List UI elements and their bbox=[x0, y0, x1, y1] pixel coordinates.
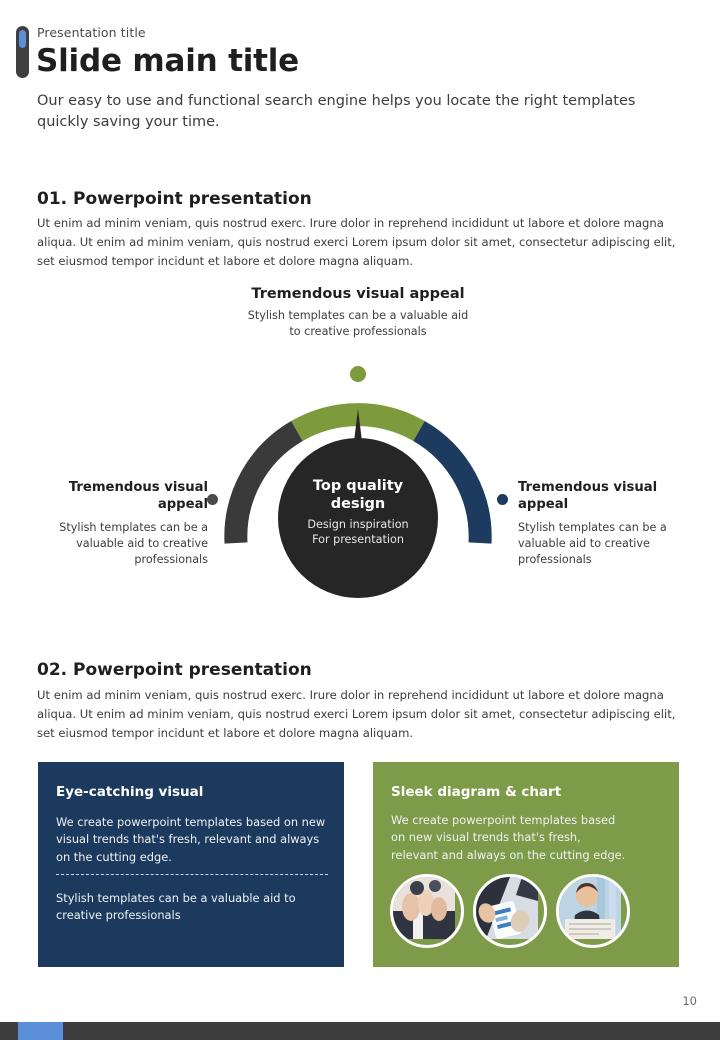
gauge-label-right: Tremendous visual appeal Stylish templat… bbox=[518, 480, 668, 568]
card-green-title: Sleek diagram & chart bbox=[391, 784, 561, 800]
gauge-diagram: Tremendous visual appeal Stylish templat… bbox=[0, 280, 720, 600]
footer-accent-block bbox=[18, 1022, 63, 1040]
gauge-label-right-title: Tremendous visual appeal bbox=[518, 480, 668, 514]
page-number: 10 bbox=[682, 994, 697, 1008]
gauge-label-left-desc: Stylish templates can be a valuable aid … bbox=[58, 520, 208, 568]
gauge-label-left-title: Tremendous visual appeal bbox=[58, 480, 208, 514]
presentation-eyebrow: Presentation title bbox=[37, 25, 146, 40]
gauge-right-dot-icon bbox=[497, 494, 508, 505]
gauge-arcs-graphic bbox=[218, 365, 502, 600]
section-body-02: Ut enim ad minim veniam, quis nostrud ex… bbox=[37, 686, 687, 742]
gauge-label-left: Tremendous visual appeal Stylish templat… bbox=[58, 480, 208, 568]
gauge-label-right-desc: Stylish templates can be a valuable aid … bbox=[518, 520, 668, 568]
title-marker-accent bbox=[19, 30, 26, 48]
title-marker-icon bbox=[16, 26, 29, 78]
section-heading-01: 01. Powerpoint presentation bbox=[37, 189, 312, 209]
gauge-label-top-title: Tremendous visual appeal bbox=[243, 285, 473, 303]
section-body-01: Ut enim ad minim veniam, quis nostrud ex… bbox=[37, 214, 687, 270]
tablet-chart-meeting-photo bbox=[473, 874, 547, 948]
gauge-label-top-desc: Stylish templates can be a valuable aid … bbox=[243, 308, 473, 339]
card-sleek-diagram-chart[interactable]: Sleek diagram & chart We create powerpoi… bbox=[373, 762, 679, 967]
gauge-left-dot-icon bbox=[207, 494, 218, 505]
card-green-photo-row bbox=[390, 874, 630, 948]
card-eye-catching-visual[interactable]: Eye-catching visual We create powerpoint… bbox=[38, 762, 344, 967]
man-reading-newspaper-photo bbox=[556, 874, 630, 948]
card-blue-divider bbox=[56, 874, 328, 875]
gauge-label-top: Tremendous visual appeal Stylish templat… bbox=[243, 285, 473, 339]
footer-bar bbox=[0, 1022, 720, 1040]
card-green-body: We create powerpoint templates based on … bbox=[391, 812, 631, 864]
card-blue-title: Eye-catching visual bbox=[56, 784, 203, 800]
section-heading-02: 02. Powerpoint presentation bbox=[37, 660, 312, 680]
card-blue-note: Stylish templates can be a valuable aid … bbox=[56, 890, 328, 924]
page-title: Slide main title bbox=[36, 43, 299, 79]
card-blue-body: We create powerpoint templates based on … bbox=[56, 814, 328, 866]
applauding-hands-photo bbox=[390, 874, 464, 948]
page-subtitle: Our easy to use and functional search en… bbox=[37, 91, 637, 133]
gauge-top-dot-icon bbox=[350, 366, 366, 382]
